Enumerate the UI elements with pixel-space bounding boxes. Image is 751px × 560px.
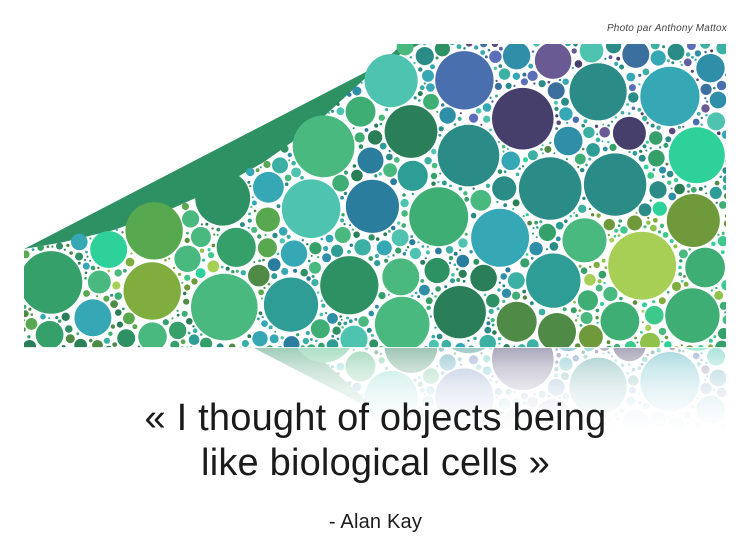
slide-canvas: Photo par Anthony Mattox « I thought of … — [0, 0, 751, 560]
photo-credit: Photo par Anthony Mattox — [607, 23, 727, 34]
quote-block: « I thought of objects being like biolog… — [0, 396, 751, 486]
quote-line-2: like biological cells » — [0, 441, 751, 486]
quote-line-1: « I thought of objects being — [0, 396, 751, 441]
photo-container — [24, 44, 726, 348]
quote-attribution: - Alan Kay — [0, 511, 751, 534]
circle-packing-svg — [24, 44, 726, 348]
circle-packing-image — [24, 44, 726, 348]
